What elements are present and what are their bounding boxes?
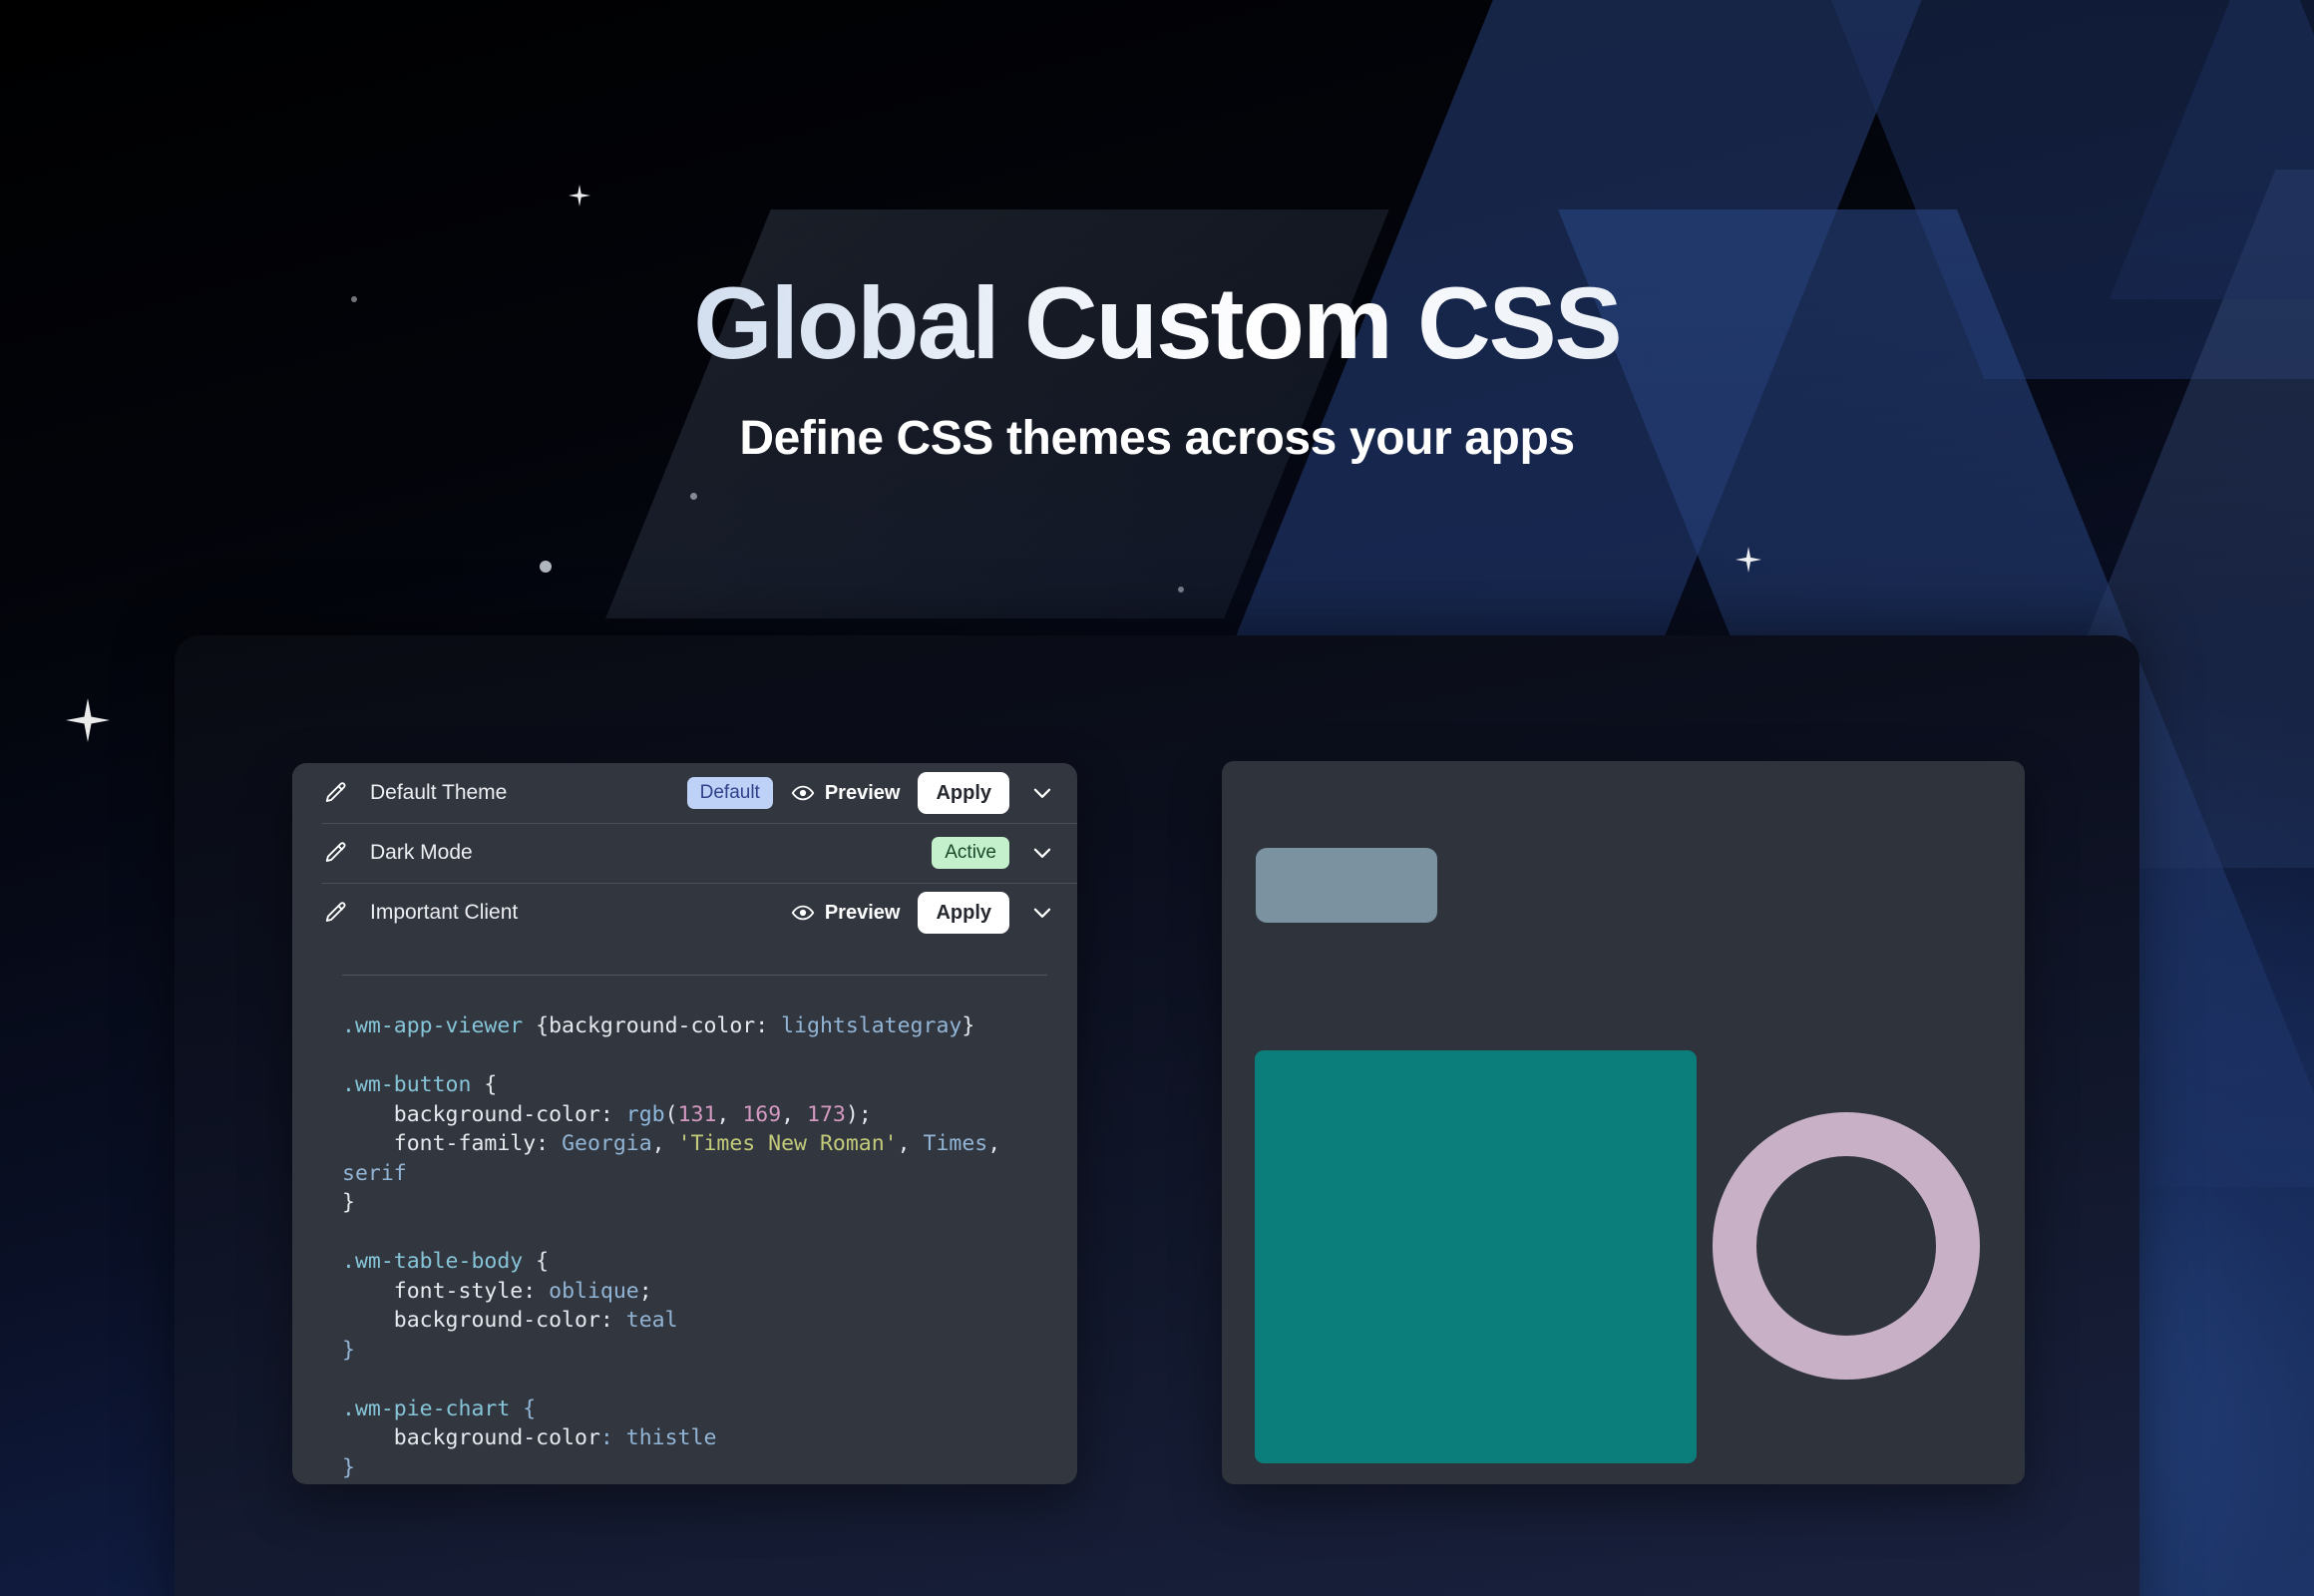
sparkle-star	[1735, 547, 1761, 573]
theme-name-label: Important Client	[370, 901, 518, 925]
sparkle-dot	[540, 561, 552, 573]
pencil-icon[interactable]	[322, 900, 348, 926]
status-badge: Default	[687, 777, 773, 810]
chevron-down-icon[interactable]	[1025, 836, 1059, 870]
hero-text-block: Global Custom CSS Define CSS themes acro…	[0, 269, 2314, 466]
pencil-icon[interactable]	[322, 780, 348, 806]
preview-button[interactable]: Preview	[789, 897, 903, 929]
preview-sample-table-body	[1255, 1050, 1697, 1463]
sparkle-star	[569, 185, 590, 206]
preview-button[interactable]: Preview	[789, 777, 903, 809]
page-title: Global Custom CSS	[0, 269, 2314, 377]
css-code-editor[interactable]: .wm-app-viewer {background-color: lights…	[292, 1011, 1077, 1482]
apply-button[interactable]: Apply	[918, 892, 1009, 934]
sparkle-star	[66, 698, 110, 742]
chevron-down-icon[interactable]	[1025, 776, 1059, 810]
row-actions: Active	[932, 836, 1059, 870]
hero-stage: Global Custom CSS Define CSS themes acro…	[0, 0, 2314, 1596]
sparkle-dot	[690, 493, 697, 500]
preview-button-label: Preview	[825, 902, 901, 925]
theme-manager-card: Default Theme Default Preview Apply	[292, 763, 1077, 1484]
preview-sample-pie-chart	[1713, 1112, 1980, 1380]
theme-row-dark-mode[interactable]: Dark Mode Active	[292, 823, 1077, 883]
page-subtitle: Define CSS themes across your apps	[0, 411, 2314, 466]
pencil-icon[interactable]	[322, 840, 348, 866]
section-divider	[342, 975, 1047, 976]
chevron-down-icon[interactable]	[1025, 896, 1059, 930]
preview-sample-button[interactable]	[1256, 848, 1437, 923]
theme-name-label: Default Theme	[370, 781, 507, 805]
apply-button[interactable]: Apply	[918, 772, 1009, 814]
deco-slab-e	[2110, 0, 2314, 299]
row-actions: Preview Apply	[789, 892, 1059, 934]
eye-icon	[791, 781, 815, 805]
sparkle-dot	[1178, 587, 1184, 593]
theme-name-label: Dark Mode	[370, 841, 473, 865]
preview-button-label: Preview	[825, 782, 901, 805]
row-actions: Default Preview Apply	[687, 772, 1059, 814]
theme-preview-panel	[1222, 761, 2025, 1484]
eye-icon	[791, 901, 815, 925]
status-badge: Active	[932, 837, 1009, 870]
theme-row-important-client[interactable]: Important Client Preview Apply	[292, 883, 1077, 943]
theme-row-default-theme[interactable]: Default Theme Default Preview Apply	[292, 763, 1077, 823]
